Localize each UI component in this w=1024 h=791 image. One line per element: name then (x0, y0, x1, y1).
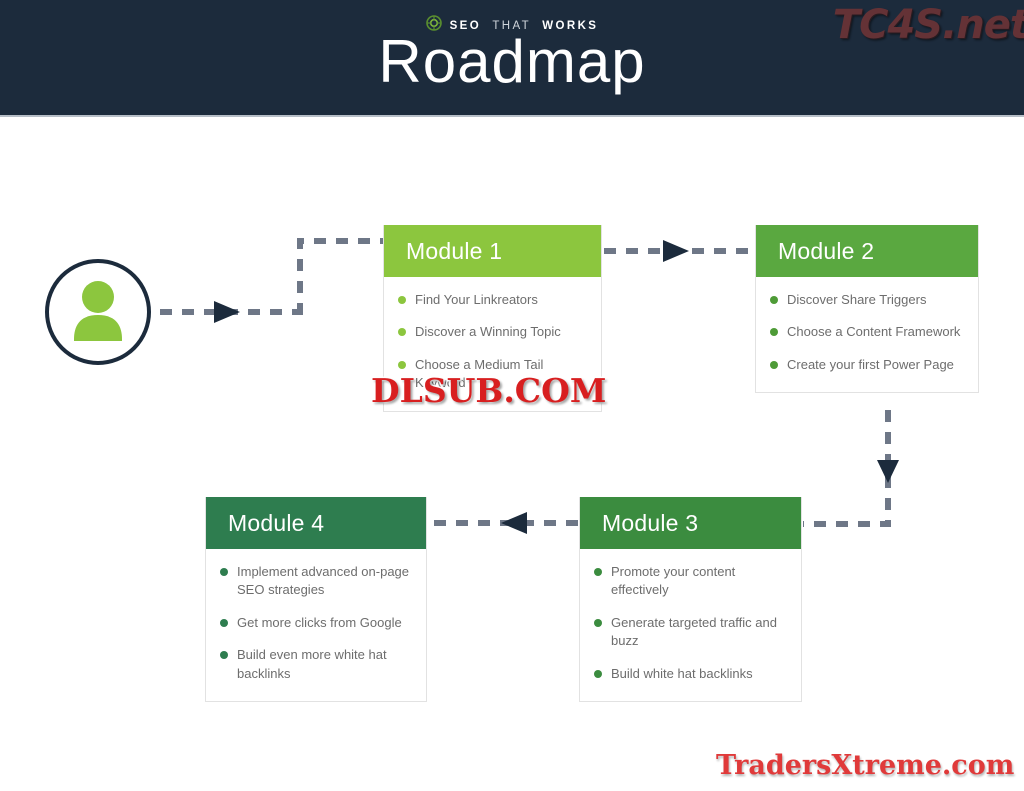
module-3-header: Module 3 (580, 497, 801, 549)
module-1-title: Module 1 (406, 238, 502, 265)
arrowhead-m1-to-m2-icon (663, 240, 689, 262)
bullet-dot-icon (594, 568, 602, 576)
module-card-3[interactable]: Module 3 Promote your content effectivel… (579, 497, 802, 702)
module-3-item-2: Generate targeted traffic and buzz (611, 614, 787, 651)
module-1-item-2: Discover a Winning Topic (415, 323, 561, 341)
start-node-avatar (45, 259, 151, 365)
module-4-item-3: Build even more white hat backlinks (237, 646, 412, 683)
list-item: Implement advanced on-page SEO strategie… (220, 563, 412, 600)
module-card-2[interactable]: Module 2 Discover Share Triggers Choose … (755, 225, 979, 393)
arrowhead-m2-to-m3-icon (877, 460, 899, 483)
bullet-dot-icon (398, 328, 406, 336)
list-item: Get more clicks from Google (220, 614, 412, 632)
list-item: Discover a Winning Topic (398, 323, 587, 341)
arrowhead-m3-to-m4-icon (501, 512, 527, 534)
module-3-title: Module 3 (602, 510, 698, 537)
bullet-dot-icon (594, 619, 602, 627)
bullet-dot-icon (220, 568, 228, 576)
bullet-dot-icon (220, 619, 228, 627)
module-2-header: Module 2 (756, 225, 978, 277)
watermark-center: DLSUB.COM (371, 371, 606, 410)
bullet-dot-icon (398, 296, 406, 304)
person-avatar-icon (45, 259, 151, 365)
module-2-body: Discover Share Triggers Choose a Content… (756, 277, 978, 392)
module-4-body: Implement advanced on-page SEO strategie… (206, 549, 426, 701)
list-item: Promote your content effectively (594, 563, 787, 600)
bullet-dot-icon (770, 296, 778, 304)
module-card-4[interactable]: Module 4 Implement advanced on-page SEO … (205, 497, 427, 702)
module-1-header: Module 1 (384, 225, 601, 277)
module-4-item-2: Get more clicks from Google (237, 614, 402, 632)
watermark-bottom-right: TradersXtreme.com (716, 750, 1014, 781)
module-2-title: Module 2 (778, 238, 874, 265)
list-item: Find Your Linkreators (398, 291, 587, 309)
bullet-dot-icon (594, 670, 602, 678)
module-2-item-2: Choose a Content Framework (787, 323, 960, 341)
list-item: Discover Share Triggers (770, 291, 964, 309)
module-4-item-1: Implement advanced on-page SEO strategie… (237, 563, 412, 600)
module-4-header: Module 4 (206, 497, 426, 549)
list-item: Generate targeted traffic and buzz (594, 614, 787, 651)
list-item: Build even more white hat backlinks (220, 646, 412, 683)
connector-start-to-m1-elbow (300, 241, 383, 315)
list-item: Build white hat backlinks (594, 665, 787, 683)
watermark-top-right: TC4S.net (833, 2, 1024, 48)
module-4-title: Module 4 (228, 510, 324, 537)
bullet-dot-icon (398, 361, 406, 369)
bullet-dot-icon (220, 651, 228, 659)
module-3-item-3: Build white hat backlinks (611, 665, 753, 683)
bullet-dot-icon (770, 328, 778, 336)
connector-m2-to-m3 (803, 410, 888, 524)
list-item: Choose a Content Framework (770, 323, 964, 341)
module-2-item-3: Create your first Power Page (787, 356, 954, 374)
module-2-item-1: Discover Share Triggers (787, 291, 926, 309)
list-item: Create your first Power Page (770, 356, 964, 374)
roadmap-infographic: SEO THAT WORKS Roadmap Module 1 (0, 0, 1024, 791)
module-3-item-1: Promote your content effectively (611, 563, 787, 600)
arrowhead-start-to-m1-icon (214, 301, 240, 323)
bullet-dot-icon (770, 361, 778, 369)
module-1-item-1: Find Your Linkreators (415, 291, 538, 309)
module-3-body: Promote your content effectively Generat… (580, 549, 801, 701)
